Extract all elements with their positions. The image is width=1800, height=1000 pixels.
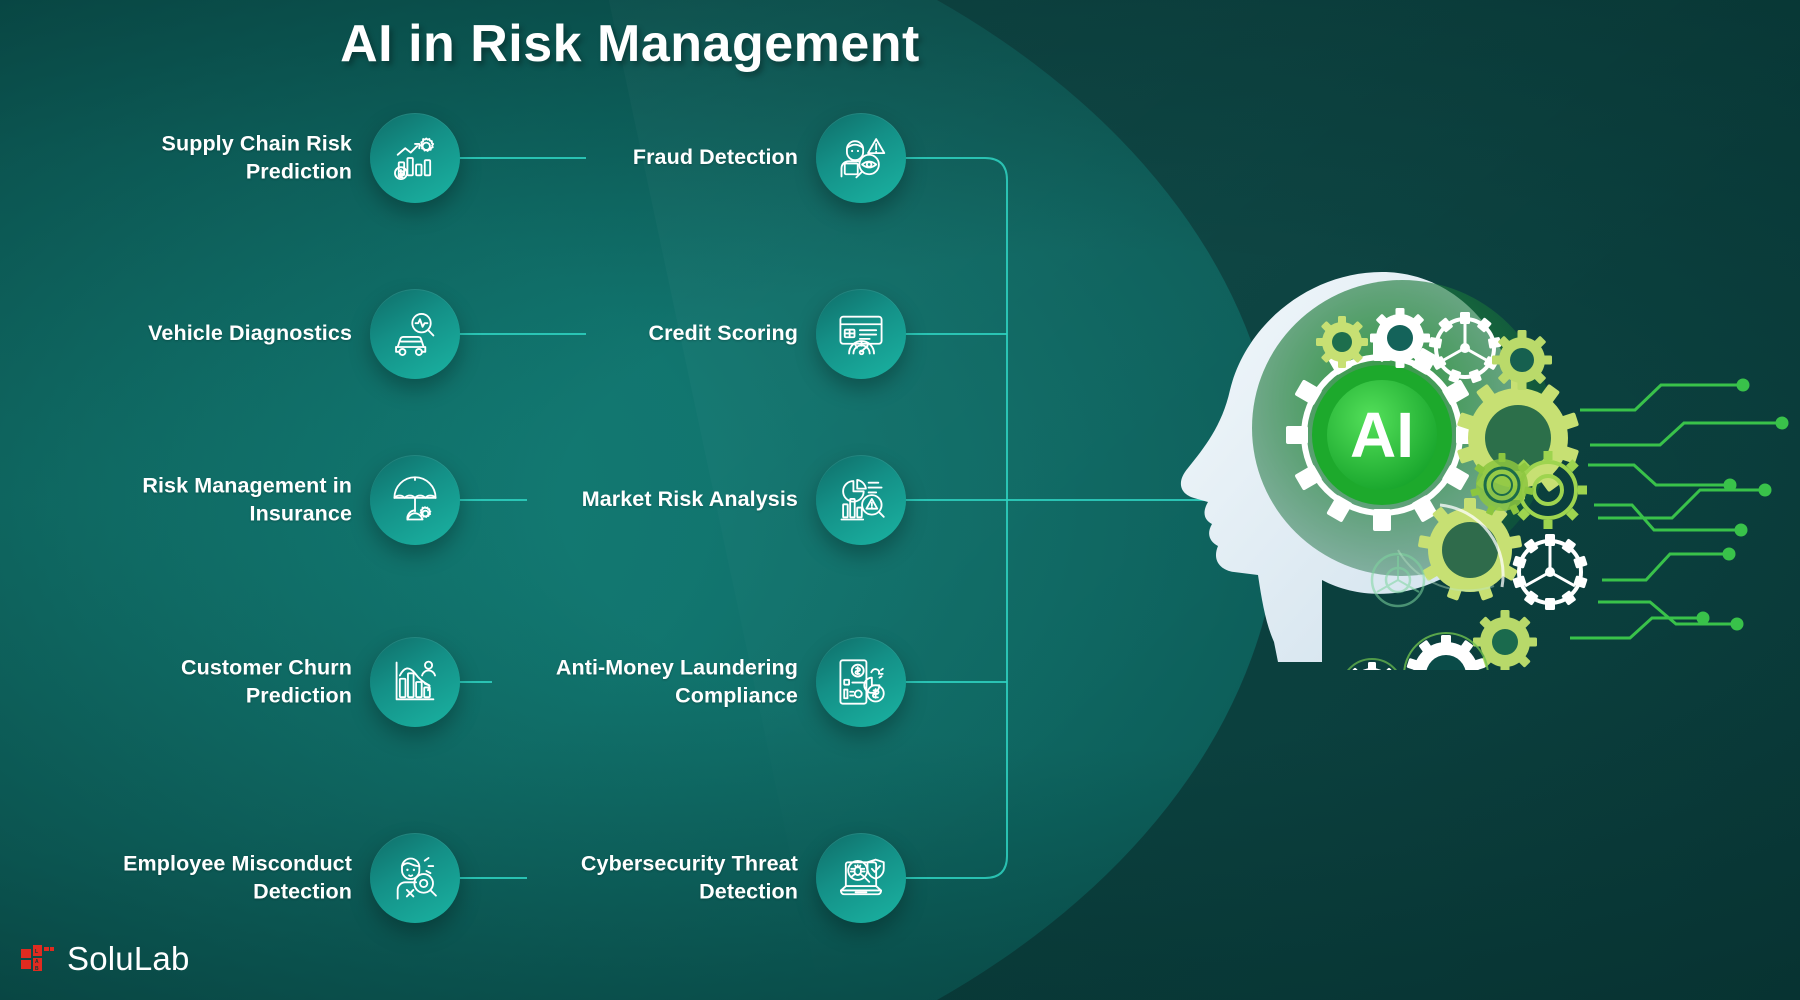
fraud-detection-icon[interactable]: [816, 113, 906, 203]
wire-bus-row1: [905, 158, 1007, 500]
label-fraud-detection: Fraud Detection: [598, 144, 798, 172]
row-left-4[interactable]: Customer Churn Prediction: [60, 632, 460, 732]
row-right-5[interactable]: Cybersecurity Threat Detection: [527, 828, 906, 928]
label-cybersecurity-threat-detection: Cybersecurity Threat Detection: [543, 850, 798, 905]
row-left-2[interactable]: Vehicle Diagnostics: [60, 284, 460, 384]
svg-text:A: A: [35, 959, 39, 965]
label-risk-management-in-insurance: Risk Management in Insurance: [94, 472, 352, 527]
label-credit-scoring: Credit Scoring: [598, 320, 798, 348]
solulab-logo-mark: LAB: [20, 941, 56, 977]
customer-churn-chart-icon[interactable]: [370, 637, 460, 727]
row-left-3[interactable]: Risk Management in Insurance: [60, 450, 460, 550]
label-supply-chain-risk-prediction: Supply Chain Risk Prediction: [92, 130, 352, 185]
svg-text:L: L: [35, 949, 38, 955]
wire-bus-row5: [905, 500, 1007, 878]
page-title: AI in Risk Management: [0, 14, 1260, 74]
solulab-wordmark: SoluLab: [67, 940, 190, 978]
solulab-logo[interactable]: LAB SoluLab: [20, 940, 190, 978]
row-right-4[interactable]: Anti-Money Laundering Compliance: [492, 632, 906, 732]
row-right-1[interactable]: Fraud Detection: [586, 108, 906, 208]
credit-scoring-icon[interactable]: [816, 289, 906, 379]
circuit-traces: [1570, 380, 1787, 638]
label-customer-churn-prediction: Customer Churn Prediction: [104, 654, 352, 709]
row-left-1[interactable]: Supply Chain Risk Prediction: [60, 108, 460, 208]
supply-chain-risk-icon[interactable]: [370, 113, 460, 203]
row-left-5[interactable]: Employee Misconduct Detection: [60, 828, 460, 928]
label-vehicle-diagnostics: Vehicle Diagnostics: [82, 320, 352, 348]
ai-badge-text: AI: [1350, 399, 1414, 471]
cybersecurity-threat-icon[interactable]: [816, 833, 906, 923]
row-right-2[interactable]: Credit Scoring: [586, 284, 906, 384]
label-market-risk-analysis: Market Risk Analysis: [543, 486, 798, 514]
employee-misconduct-icon[interactable]: [370, 833, 460, 923]
svg-text:B: B: [35, 966, 39, 972]
anti-money-laundering-icon[interactable]: [816, 637, 906, 727]
ai-head-gears-illustration: AI: [1150, 250, 1800, 670]
insurance-umbrella-icon[interactable]: [370, 455, 460, 545]
label-employee-misconduct-detection: Employee Misconduct Detection: [72, 850, 352, 905]
vehicle-diagnostics-icon[interactable]: [370, 289, 460, 379]
row-right-3[interactable]: Market Risk Analysis: [527, 450, 906, 550]
label-anti-money-laundering-compliance: Anti-Money Laundering Compliance: [508, 654, 798, 709]
market-risk-analysis-icon[interactable]: [816, 455, 906, 545]
